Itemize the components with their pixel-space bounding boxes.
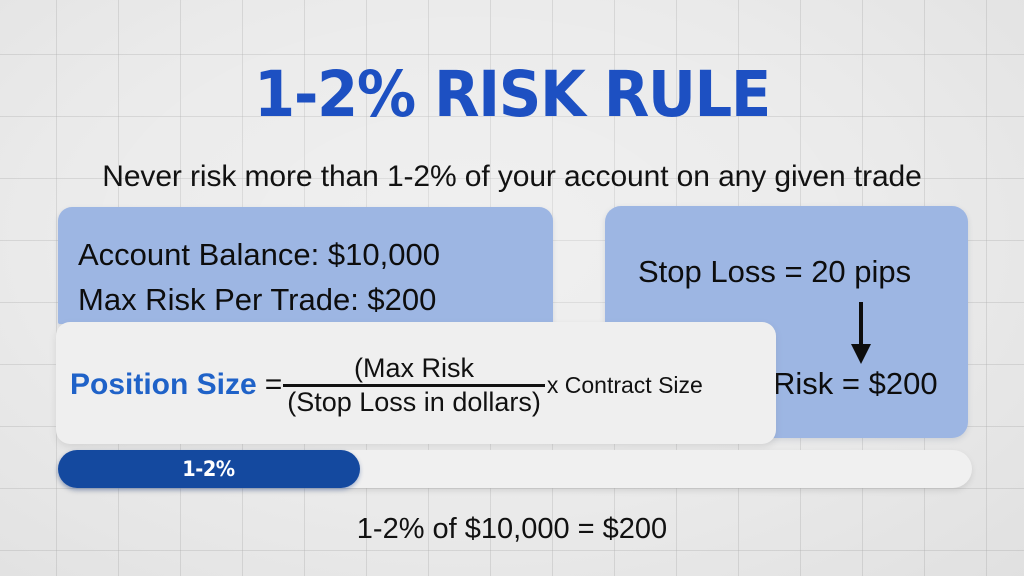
formula-equals-sign: =	[265, 368, 283, 402]
slide-canvas: 1-2% RISK RULE Never risk more than 1-2%…	[0, 0, 1024, 576]
bottom-caption: 1-2% of $10,000 = $200	[0, 513, 1024, 546]
risk-progress-fill[interactable]: 1-2%	[58, 450, 360, 488]
account-balance-label: Account Balance: $10,000	[78, 237, 440, 273]
position-size-formula: Position Size = (Max Risk (Stop Loss in …	[70, 355, 703, 415]
fraction-numerator: (Max Risk	[346, 355, 482, 384]
page-title: 1-2% RISK RULE	[31, 58, 994, 131]
stop-loss-label: Stop Loss = 20 pips	[638, 254, 911, 290]
risk-progress-track[interactable]: 1-2%	[58, 450, 972, 488]
account-info-card: Account Balance: $10,000 Max Risk Per Tr…	[58, 207, 553, 324]
risk-progress-label: 1-2%	[183, 457, 235, 481]
subtitle-text: Never risk more than 1-2% of your accoun…	[0, 160, 1024, 194]
formula-fraction: (Max Risk (Stop Loss in dollars)	[283, 355, 545, 416]
formula-label: Position Size	[70, 368, 257, 402]
risk-result-label: Risk = $200	[773, 366, 938, 402]
fraction-denominator: (Stop Loss in dollars)	[283, 387, 545, 416]
max-risk-label: Max Risk Per Trade: $200	[78, 282, 436, 318]
down-arrow-icon	[850, 302, 872, 366]
formula-contract-size: x Contract Size	[547, 372, 703, 399]
